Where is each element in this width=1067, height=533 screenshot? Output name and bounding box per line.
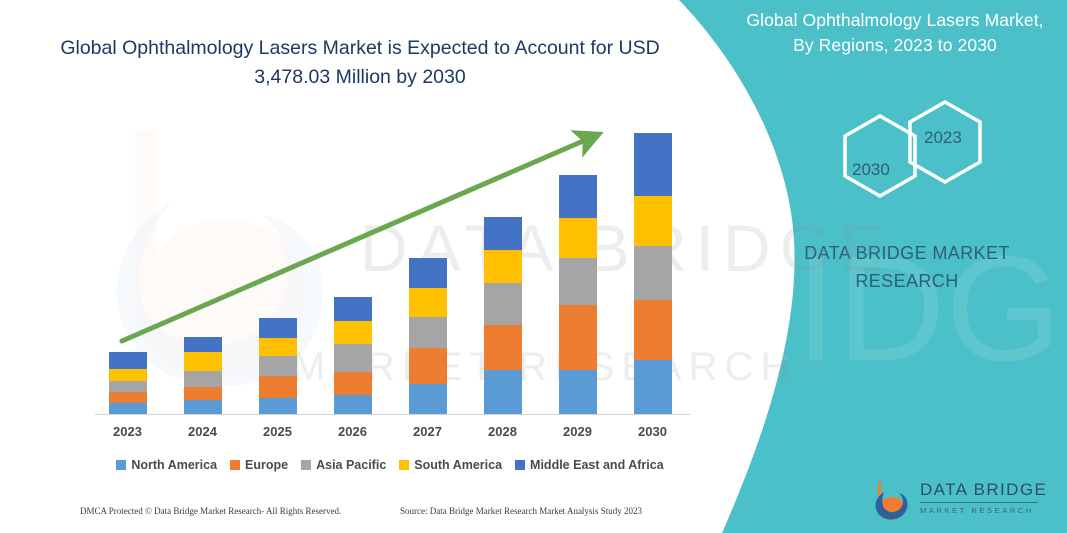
- footer: DMCA Protected © Data Bridge Market Rese…: [0, 506, 700, 528]
- legend-item-asia-pacific[interactable]: Asia Pacific: [301, 458, 386, 472]
- logo-text-block: DATA BRIDGE MARKET RESEARCH: [920, 480, 1047, 515]
- bar-segment-2027-europe: [409, 348, 447, 384]
- bar-segment-2028-south-america: [484, 250, 522, 283]
- legend-swatch-icon: [399, 460, 409, 470]
- bar-2030: [634, 133, 672, 414]
- hexagon-2030-label: 2030: [852, 160, 890, 180]
- bar-segment-2029-north-america: [559, 370, 597, 414]
- bar-segment-2029-middle-east-and-africa: [559, 175, 597, 218]
- bar-segment-2024-asia-pacific: [184, 371, 222, 387]
- bar-segment-2023-europe: [109, 392, 147, 403]
- x-axis-label-2030: 2030: [618, 424, 688, 439]
- bar-segment-2030-south-america: [634, 196, 672, 246]
- bar-2024: [184, 337, 222, 414]
- logo-title: DATA BRIDGE: [920, 480, 1047, 500]
- logo-subtitle: MARKET RESEARCH: [920, 506, 1047, 515]
- bar-segment-2024-north-america: [184, 400, 222, 414]
- legend-label: Middle East and Africa: [530, 458, 664, 472]
- chart-title: Global Ophthalmology Lasers Market is Ex…: [60, 34, 660, 93]
- data-bridge-logo: DATA BRIDGE MARKET RESEARCH: [870, 478, 1050, 524]
- hexagons-svg: [820, 100, 1020, 215]
- bar-2028: [484, 217, 522, 414]
- bar-segment-2025-asia-pacific: [259, 356, 297, 376]
- legend-swatch-icon: [230, 460, 240, 470]
- hexagon-2030: [845, 116, 915, 196]
- bar-segment-2030-north-america: [634, 360, 672, 414]
- legend-swatch-icon: [116, 460, 126, 470]
- hexagon-group: 2030 2023: [820, 100, 1020, 210]
- bar-segment-2025-middle-east-and-africa: [259, 318, 297, 338]
- x-axis-label-2027: 2027: [393, 424, 463, 439]
- x-axis-label-2023: 2023: [93, 424, 163, 439]
- footer-copyright: DMCA Protected © Data Bridge Market Rese…: [80, 506, 341, 516]
- bar-segment-2023-south-america: [109, 369, 147, 381]
- bar-segment-2029-asia-pacific: [559, 258, 597, 305]
- bar-2026: [334, 297, 372, 414]
- bar-segment-2028-asia-pacific: [484, 283, 522, 325]
- bar-segment-2026-north-america: [334, 395, 372, 414]
- bar-segment-2025-north-america: [259, 398, 297, 414]
- legend-swatch-icon: [515, 460, 525, 470]
- x-axis-label-2028: 2028: [468, 424, 538, 439]
- hexagon-2023-label: 2023: [924, 128, 962, 148]
- bar-segment-2023-north-america: [109, 403, 147, 414]
- x-axis-label-2029: 2029: [543, 424, 613, 439]
- bar-segment-2028-middle-east-and-africa: [484, 217, 522, 250]
- bar-segment-2024-middle-east-and-africa: [184, 337, 222, 352]
- bar-segment-2028-north-america: [484, 370, 522, 414]
- bar-2027: [409, 258, 447, 414]
- legend-label: North America: [131, 458, 217, 472]
- bar-segment-2025-europe: [259, 376, 297, 398]
- bar-segment-2026-europe: [334, 372, 372, 395]
- bar-segment-2027-south-america: [409, 288, 447, 317]
- bar-segment-2024-europe: [184, 387, 222, 400]
- bar-2023: [109, 352, 147, 414]
- bar-segment-2024-south-america: [184, 352, 222, 371]
- bar-segment-2023-asia-pacific: [109, 381, 147, 392]
- legend-item-south-america[interactable]: South America: [399, 458, 502, 472]
- panel-title: Global Ophthalmology Lasers Market, By R…: [735, 8, 1055, 58]
- chart-legend: North AmericaEuropeAsia PacificSouth Ame…: [90, 455, 690, 475]
- legend-item-middle-east-and-africa[interactable]: Middle East and Africa: [515, 458, 664, 472]
- legend-item-europe[interactable]: Europe: [230, 458, 288, 472]
- footer-source: Source: Data Bridge Market Research Mark…: [400, 506, 642, 516]
- legend-label: Europe: [245, 458, 288, 472]
- bar-segment-2026-asia-pacific: [334, 344, 372, 372]
- bar-segment-2027-asia-pacific: [409, 317, 447, 348]
- legend-label: Asia Pacific: [316, 458, 386, 472]
- bar-segment-2028-europe: [484, 325, 522, 370]
- bar-segment-2026-south-america: [334, 321, 372, 344]
- x-axis-label-2025: 2025: [243, 424, 313, 439]
- bar-2025: [259, 318, 297, 414]
- bar-segment-2027-north-america: [409, 384, 447, 414]
- logo-mark-icon: [870, 478, 918, 522]
- bar-segment-2025-south-america: [259, 338, 297, 356]
- bar-segment-2030-middle-east-and-africa: [634, 133, 672, 196]
- bar-segment-2029-south-america: [559, 218, 597, 258]
- legend-item-north-america[interactable]: North America: [116, 458, 217, 472]
- legend-swatch-icon: [301, 460, 311, 470]
- bar-2029: [559, 175, 597, 414]
- bar-segment-2026-middle-east-and-africa: [334, 297, 372, 321]
- bar-segment-2023-middle-east-and-africa: [109, 352, 147, 369]
- logo-divider: [920, 502, 1038, 503]
- x-axis-labels: 20232024202520262027202820292030: [90, 424, 690, 446]
- bar-segment-2027-middle-east-and-africa: [409, 258, 447, 288]
- stacked-bar-chart: [90, 120, 690, 416]
- x-axis-label-2026: 2026: [318, 424, 388, 439]
- bar-segment-2030-asia-pacific: [634, 246, 672, 300]
- legend-label: South America: [414, 458, 502, 472]
- infographic-root: RIDGE Global Ophthalmology Lasers Market…: [0, 0, 1067, 533]
- x-axis-label-2024: 2024: [168, 424, 238, 439]
- x-axis-line: [95, 414, 690, 415]
- bar-segment-2029-europe: [559, 305, 597, 370]
- bar-segment-2030-europe: [634, 300, 672, 360]
